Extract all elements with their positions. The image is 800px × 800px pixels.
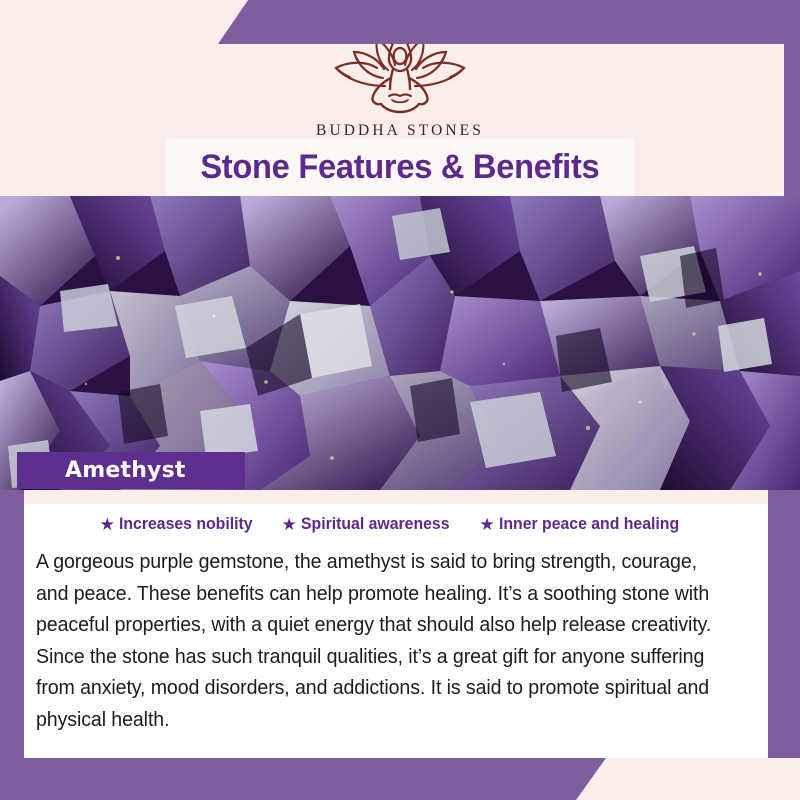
benefit-label-3: Inner peace and healing — [499, 514, 679, 534]
benefit-item-1: ★ Increases nobility — [100, 514, 263, 534]
star-icon: ★ — [479, 516, 494, 533]
title-panel: Stone Features & Benefits — [166, 139, 634, 196]
infographic-page: BUDDHA STONES Stone Features & Benefits — [0, 0, 800, 800]
amethyst-crystal-art — [0, 196, 800, 490]
benefit-label-2: Spiritual awareness — [301, 514, 450, 534]
decor-band-bottom — [0, 758, 606, 800]
stone-name-banner: Amethyst — [17, 452, 245, 489]
benefit-item-2: ★ Spiritual awareness — [282, 514, 461, 534]
decor-band-left-lower — [0, 490, 24, 758]
decor-band-top — [218, 0, 800, 44]
amethyst-hero-image — [0, 196, 800, 490]
benefits-list: ★ Increases nobility ★ Spiritual awarene… — [24, 514, 768, 534]
decor-band-right-lower — [768, 490, 800, 758]
star-icon: ★ — [100, 516, 115, 533]
content-panel: ★ Increases nobility ★ Spiritual awarene… — [24, 490, 768, 758]
star-icon: ★ — [282, 516, 297, 533]
decor-band-right-top — [784, 44, 800, 196]
page-title: Stone Features & Benefits — [200, 148, 599, 187]
content-top-strip — [24, 490, 768, 504]
stone-description: A gorgeous purple gemstone, the amethyst… — [36, 546, 720, 735]
benefit-item-3: ★ Inner peace and healing — [479, 514, 692, 534]
brand-name: BUDDHA STONES — [316, 122, 484, 140]
benefit-label-1: Increases nobility — [119, 514, 253, 534]
stone-name: Amethyst — [65, 458, 186, 483]
